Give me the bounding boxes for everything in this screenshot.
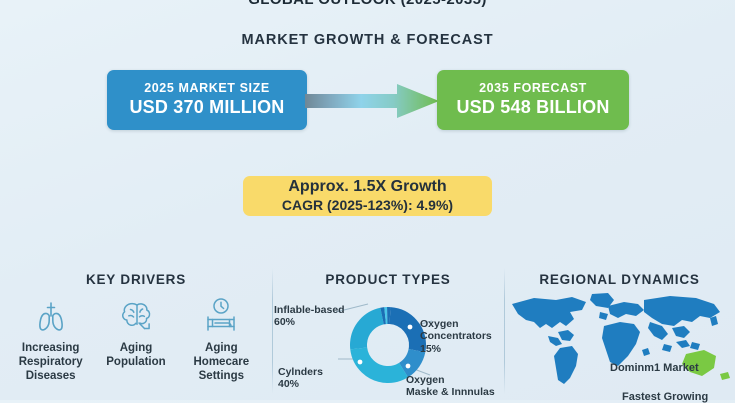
product-types-title: PRODUCT TYPES: [272, 272, 504, 287]
driver-label-aging-population: Aging Population: [106, 341, 165, 369]
brain-icon: [117, 296, 155, 336]
market-flow-row: 2025 MARKET SIZE USD 370 MILLION 2035 FO…: [0, 70, 735, 130]
regional-dynamics-panel: REGIONAL DYNAMICS: [504, 262, 735, 400]
current-market-caption: 2025 MARKET SIZE: [144, 82, 270, 96]
forecast-amount: USD 548 BILLION: [456, 96, 609, 119]
world-map-icon: Dominm1 Market Fastest Growing: [504, 288, 735, 400]
driver-label-homecare: Aging Homecare Settings: [194, 341, 250, 383]
growth-multiplier-text: Approx. 1.5X Growth: [288, 178, 446, 196]
map-label-fastest-growing: Fastest Growing: [622, 391, 708, 403]
driver-item-aging-population: Aging Population: [95, 296, 177, 369]
key-drivers-list: Increasing Respiratory Diseases: [8, 296, 264, 383]
bottom-panels: KEY DRIVERS Increasing Respiratory Disea…: [0, 262, 735, 400]
driver-item-respiratory: Increasing Respiratory Diseases: [10, 296, 92, 383]
map-label-dominant-market: Dominm1 Market: [610, 362, 699, 374]
product-types-panel: PRODUCT TYPES: [272, 262, 504, 400]
donut-label-masks: Oxygen Maske & Innnulas: [406, 374, 495, 399]
current-market-size-box: 2025 MARKET SIZE USD 370 MILLION: [107, 70, 307, 130]
hospital-bed-clock-icon: [202, 296, 240, 336]
lungs-icon: [33, 296, 69, 336]
growth-section-heading: MARKET GROWTH & FORECAST: [0, 32, 735, 48]
regional-dynamics-title: REGIONAL DYNAMICS: [504, 272, 735, 287]
driver-label-respiratory: Increasing Respiratory Diseases: [19, 341, 83, 383]
key-drivers-title: KEY DRIVERS: [0, 272, 272, 287]
donut-label-inflatable: Inflable-based 60%: [274, 304, 345, 329]
growth-summary-badge: Approx. 1.5X Growth CAGR (2025-123%): 4.…: [243, 176, 492, 216]
product-donut-chart: Inflable-based 60% Cylnders 40% Oxygen C…: [272, 290, 504, 400]
forecast-caption: 2035 FORECAST: [479, 82, 587, 96]
key-drivers-panel: KEY DRIVERS Increasing Respiratory Disea…: [0, 262, 272, 400]
forecast-market-size-box: 2035 FORECAST USD 548 BILLION: [437, 70, 629, 130]
page-title: GLOBAL OUTLOOK (2025-2035): [0, 0, 735, 8]
current-market-amount: USD 370 MILLION: [129, 96, 284, 119]
donut-label-concentrators: Oxygen Concentrators 15%: [420, 318, 492, 355]
growth-cagr-text: CAGR (2025-123%): 4.9%): [282, 197, 453, 214]
donut-label-cylinders: Cylnders 40%: [278, 366, 323, 391]
right-arrow-icon: [305, 83, 440, 119]
driver-item-homecare: Aging Homecare Settings: [180, 296, 262, 383]
